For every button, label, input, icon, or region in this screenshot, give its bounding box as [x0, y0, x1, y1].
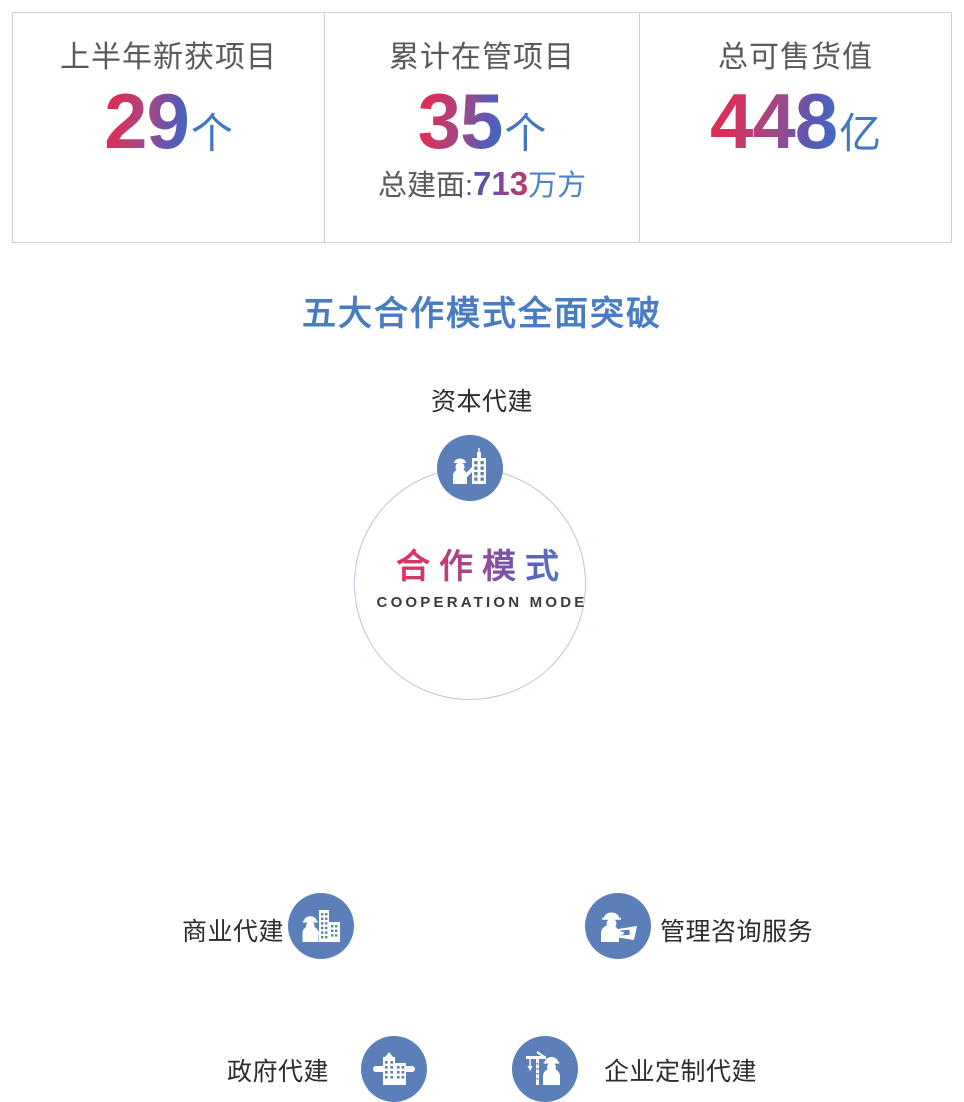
- stat-card-managed-projects: 累计在管项目 35 个 总建面: 713 万方: [324, 13, 639, 242]
- stat-card-sub-unit: 万方: [528, 171, 586, 203]
- stat-card-value-row: 35 个: [418, 82, 547, 160]
- stat-card-value: 35: [418, 82, 503, 160]
- government-building-icon: [372, 1047, 416, 1091]
- worker-blueprint-icon: [596, 904, 640, 948]
- stat-card-value-row: 448 亿: [710, 82, 881, 160]
- diagram-node-government[interactable]: [361, 1036, 427, 1102]
- stat-card-value: 448: [710, 82, 837, 160]
- stat-card-subline: 总建面: 713 万方: [378, 166, 586, 203]
- diagram-node-capital[interactable]: [437, 435, 503, 501]
- stat-card-sub-value: 713: [473, 166, 528, 202]
- stat-card-sub-label: 总建面:: [378, 171, 473, 203]
- diagram-center-subtitle: COOPERATION MODE: [0, 594, 964, 611]
- stats-summary-box: 上半年新获项目 29 个 累计在管项目 35 个 总建面: 713 万方 总可售…: [12, 12, 952, 243]
- diagram-node-label-government: 政府代建: [227, 1052, 329, 1088]
- diagram-node-enterprise-custom[interactable]: [512, 1036, 578, 1102]
- diagram-center: 合作模式 COOPERATION MODE: [0, 548, 964, 611]
- stat-card-value-row: 29 个: [104, 82, 233, 160]
- diagram-node-label-enterprise-custom: 企业定制代建: [604, 1052, 757, 1088]
- section-title: 五大合作模式全面突破: [0, 286, 964, 335]
- worker-pointing-building-icon: [448, 446, 492, 490]
- stat-card-unit: 亿: [839, 113, 881, 155]
- stat-card-title: 累计在管项目: [389, 41, 575, 74]
- stat-card-title: 总可售货值: [718, 41, 873, 74]
- crane-worker-icon: [523, 1047, 567, 1091]
- diagram-node-label-commercial: 商业代建: [182, 912, 284, 948]
- stat-card-new-projects: 上半年新获项目 29 个: [13, 13, 324, 242]
- cooperation-mode-diagram: 合作模式 COOPERATION MODE 资本代建: [0, 350, 964, 790]
- diagram-center-title: 合作模式: [396, 548, 568, 587]
- stat-card-value: 29: [104, 82, 189, 160]
- diagram-node-consulting[interactable]: [585, 893, 651, 959]
- stat-card-title: 上半年新获项目: [60, 41, 277, 74]
- diagram-node-label-consulting: 管理咨询服务: [660, 912, 813, 948]
- stat-card-unit: 个: [504, 113, 546, 155]
- stat-card-unit: 个: [191, 113, 233, 155]
- worker-commercial-building-icon: [299, 904, 343, 948]
- diagram-node-label-capital: 资本代建: [0, 382, 964, 418]
- stat-card-sellable-value: 总可售货值 448 亿: [639, 13, 951, 242]
- diagram-node-commercial[interactable]: [288, 893, 354, 959]
